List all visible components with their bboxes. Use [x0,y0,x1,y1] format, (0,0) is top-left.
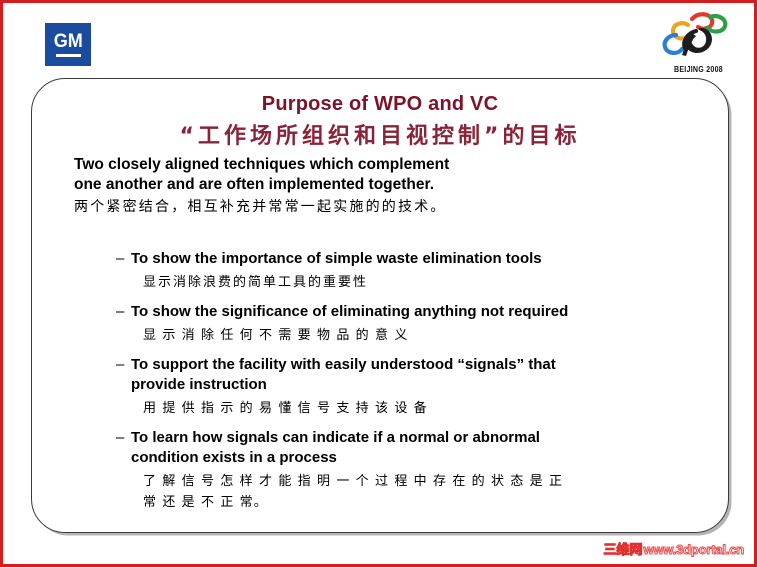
watermark-chinese: 三维网 [603,539,642,558]
gm-logo-text: GM [53,32,82,51]
gm-logo-underline [56,54,81,57]
bullet-dash-icon: – [116,302,131,322]
page-title-english: Purpose of WPO and VC [32,93,728,116]
intro-english-line-1: Two closely aligned techniques which com… [74,155,694,175]
beijing-2008-logo: BEIJING 2008 [652,11,738,73]
content-box: Purpose of WPO and VC “工作场所组织和目视控制”的目标 T… [31,78,729,533]
page-title-chinese: “工作场所组织和目视控制”的目标 [32,118,728,150]
bullet-chinese: 用 提 供 指 示 的 易 懂 信 号 支 持 该 设 备 [143,398,716,419]
bullet-dash-icon: – [116,249,131,269]
bullet-dash-icon: – [116,428,131,448]
bullet-english: To show the importance of simple waste e… [131,249,542,269]
beijing-2008-emblem-icon [652,11,738,63]
bullet-english: To learn how signals can indicate if a n… [131,428,540,468]
intro-chinese: 两个紧密结合，相互补充并常常一起实施的的技术。 [74,196,694,218]
bullet-chinese: 了 解 信 号 怎 样 才 能 指 明 一 个 过 程 中 存 在 的 状 态 … [143,471,716,513]
watermark: 三维网 www.3dportal.cn [603,539,744,558]
bullet-chinese: 显示消除浪费的简单工具的重要性 [143,272,716,293]
beijing-2008-caption: BEIJING 2008 [674,65,723,74]
list-item: – To learn how signals can indicate if a… [116,428,716,513]
list-item: – To show the significance of eliminatin… [116,302,716,346]
bullet-chinese: 显 示 消 除 任 何 不 需 要 物 品 的 意 义 [143,325,716,346]
bullet-english: To support the facility with easily unde… [131,355,556,395]
gm-logo: GM [45,23,91,66]
bullet-list: – To show the importance of simple waste… [116,249,716,522]
slide-canvas: GM BEIJING 2008 Purpose of WPO and VC “工… [0,0,757,567]
bullet-dash-icon: – [116,355,131,375]
list-item: – To support the facility with easily un… [116,355,716,419]
list-item: – To show the importance of simple waste… [116,249,716,293]
bullet-english: To show the significance of eliminating … [131,302,568,322]
intro-paragraph: Two closely aligned techniques which com… [74,155,694,218]
intro-english-line-2: one another and are often implemented to… [74,175,694,195]
watermark-url: www.3dportal.cn [643,542,744,557]
